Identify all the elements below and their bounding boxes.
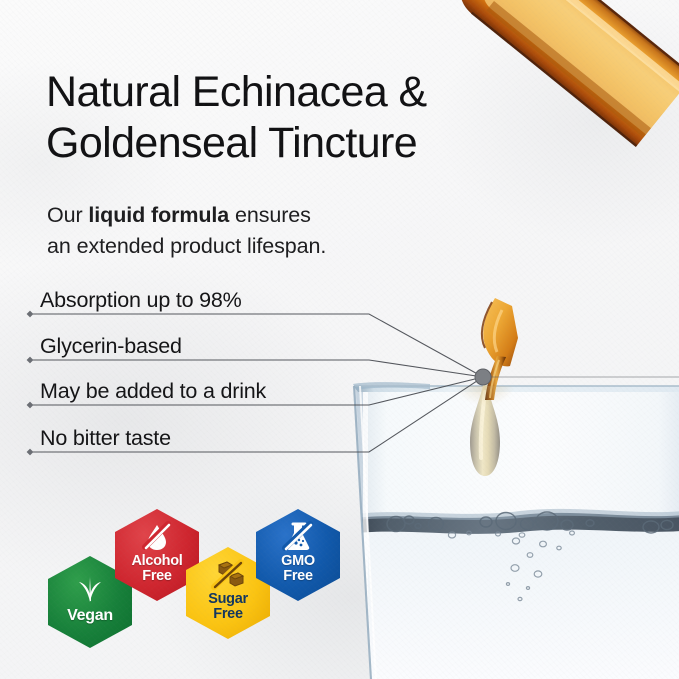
badge-sugar-line1: Sugar (208, 591, 248, 607)
flask-no-icon (283, 522, 313, 552)
droplet-no-icon (142, 522, 172, 552)
badge-vegan-label: Vegan (67, 608, 113, 624)
product-infographic: Natural Echinacea & Goldenseal Tincture … (0, 0, 679, 679)
sugar-cube-no-icon (212, 560, 244, 590)
leaf-icon (75, 574, 105, 604)
badge-gmo-line1: GMO (281, 553, 315, 569)
certification-badges: Vegan Alcohol Free (0, 0, 679, 679)
badge-gmo-line2: Free (283, 568, 312, 584)
badge-alcohol-line2: Free (142, 568, 171, 584)
badge-alcohol-line1: Alcohol (131, 553, 182, 569)
badge-sugar-line2: Free (213, 606, 242, 622)
